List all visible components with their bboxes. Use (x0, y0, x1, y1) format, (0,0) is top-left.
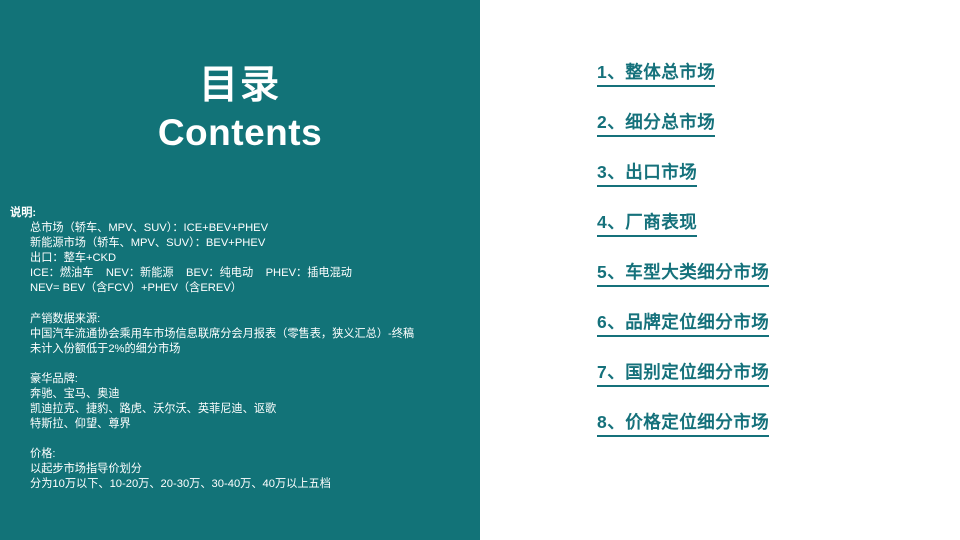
toc-item-label: 3、出口市场 (597, 160, 697, 187)
toc-item-label: 2、细分总市场 (597, 110, 715, 137)
toc-item-label: 4、厂商表现 (597, 210, 697, 237)
toc-item-8[interactable]: 8、价格定位细分市场 (597, 408, 947, 458)
notes-line: 出口：整车+CKD (10, 251, 480, 266)
notes-spacer (10, 297, 480, 312)
page-title-en: Contents (0, 110, 480, 156)
notes-line: 中国汽车流通协会乘用车市场信息联席分会月报表（零售表，狭义汇总）-终稿 (10, 327, 480, 342)
table-of-contents: 1、整体总市场 2、细分总市场 3、出口市场 4、厂商表现 5、车型大类细分市场… (597, 58, 947, 458)
notes-line: 特斯拉、仰望、尊界 (10, 417, 480, 432)
notes-line: 未计入份额低于2%的细分市场 (10, 342, 480, 357)
page-title-cn: 目录 (0, 62, 480, 110)
notes-block: 说明: 总市场（轿车、MPV、SUV）：ICE+BEV+PHEV 新能源市场（轿… (10, 206, 480, 493)
notes-line: ICE：燃油车 NEV：新能源 BEV：纯电动 PHEV：插电混动 (10, 266, 480, 281)
notes-line: 以起步市场指导价划分 (10, 462, 480, 477)
notes-line: 分为10万以下、10-20万、20-30万、30-40万、40万以上五档 (10, 477, 480, 492)
notes-line: 凯迪拉克、捷豹、路虎、沃尔沃、英菲尼迪、讴歌 (10, 402, 480, 417)
notes-line: NEV= BEV（含FCV）+PHEV（含EREV） (10, 281, 480, 296)
notes-section-heading-description: 说明: (10, 206, 480, 221)
notes-line: 新能源市场（轿车、MPV、SUV）：BEV+PHEV (10, 236, 480, 251)
toc-item-label: 5、车型大类细分市场 (597, 260, 769, 287)
notes-line: 奔驰、宝马、奥迪 (10, 387, 480, 402)
toc-item-label: 8、价格定位细分市场 (597, 410, 769, 437)
notes-spacer (10, 357, 480, 372)
toc-item-5[interactable]: 5、车型大类细分市场 (597, 258, 947, 308)
slide-root: 目录 Contents 说明: 总市场（轿车、MPV、SUV）：ICE+BEV+… (0, 0, 960, 540)
toc-item-label: 6、品牌定位细分市场 (597, 310, 769, 337)
toc-item-label: 1、整体总市场 (597, 60, 715, 87)
notes-section-heading-data-source: 产销数据来源: (10, 312, 480, 327)
notes-line: 总市场（轿车、MPV、SUV）：ICE+BEV+PHEV (10, 221, 480, 236)
toc-item-6[interactable]: 6、品牌定位细分市场 (597, 308, 947, 358)
notes-section-heading-luxury-brands: 豪华品牌: (10, 372, 480, 387)
toc-item-label: 7、国别定位细分市场 (597, 360, 769, 387)
toc-item-7[interactable]: 7、国别定位细分市场 (597, 358, 947, 408)
left-teal-panel: 目录 Contents 说明: 总市场（轿车、MPV、SUV）：ICE+BEV+… (0, 0, 480, 540)
notes-spacer (10, 432, 480, 447)
toc-item-2[interactable]: 2、细分总市场 (597, 108, 947, 158)
toc-item-1[interactable]: 1、整体总市场 (597, 58, 947, 108)
notes-section-heading-price: 价格: (10, 447, 480, 462)
toc-item-3[interactable]: 3、出口市场 (597, 158, 947, 208)
title-block: 目录 Contents (0, 62, 480, 156)
toc-item-4[interactable]: 4、厂商表现 (597, 208, 947, 258)
